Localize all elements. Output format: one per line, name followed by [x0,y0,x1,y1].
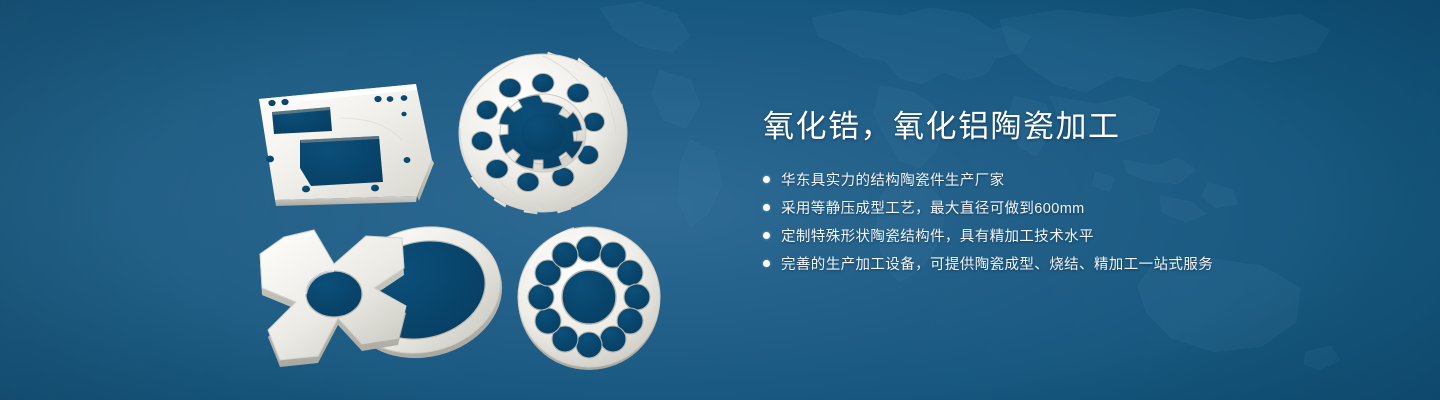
bullet-dot-icon [763,260,770,267]
ceramic-perforated-disc [518,227,660,370]
feature-label: 完善的生产加工设备，可提供陶瓷成型、烧结、精加工一站式服务 [781,253,1213,274]
feature-label: 华东具实力的结构陶瓷件生产厂家 [781,169,1005,190]
list-item: 华东具实力的结构陶瓷件生产厂家 [763,168,1383,191]
bullet-dot-icon [763,176,770,183]
list-item: 采用等静压成型工艺，最大直径可做到600mm [763,196,1383,219]
hero-banner: 氧化锆，氧化铝陶瓷加工 华东具实力的结构陶瓷件生产厂家 采用等静压成型工艺，最大… [0,0,1440,400]
banner-copy: 氧化锆，氧化铝陶瓷加工 华东具实力的结构陶瓷件生产厂家 采用等静压成型工艺，最大… [763,106,1383,280]
feature-label: 定制特殊形状陶瓷结构件，具有精加工技术水平 [781,225,1094,246]
product-image-group [0,0,720,400]
ceramic-cross-plate [260,230,406,367]
bullet-dot-icon [763,232,770,239]
bullet-dot-icon [763,204,770,211]
feature-label: 采用等静压成型工艺，最大直径可做到600mm [781,197,1085,218]
list-item: 定制特殊形状陶瓷结构件，具有精加工技术水平 [763,224,1383,247]
ceramic-machined-plate [259,84,434,206]
list-item: 完善的生产加工设备，可提供陶瓷成型、烧结、精加工一站式服务 [763,252,1383,275]
page-title: 氧化锆，氧化铝陶瓷加工 [763,106,1383,148]
feature-list: 华东具实力的结构陶瓷件生产厂家 采用等静压成型工艺，最大直径可做到600mm 定… [763,168,1383,275]
ceramic-impeller-wheel [459,52,627,214]
